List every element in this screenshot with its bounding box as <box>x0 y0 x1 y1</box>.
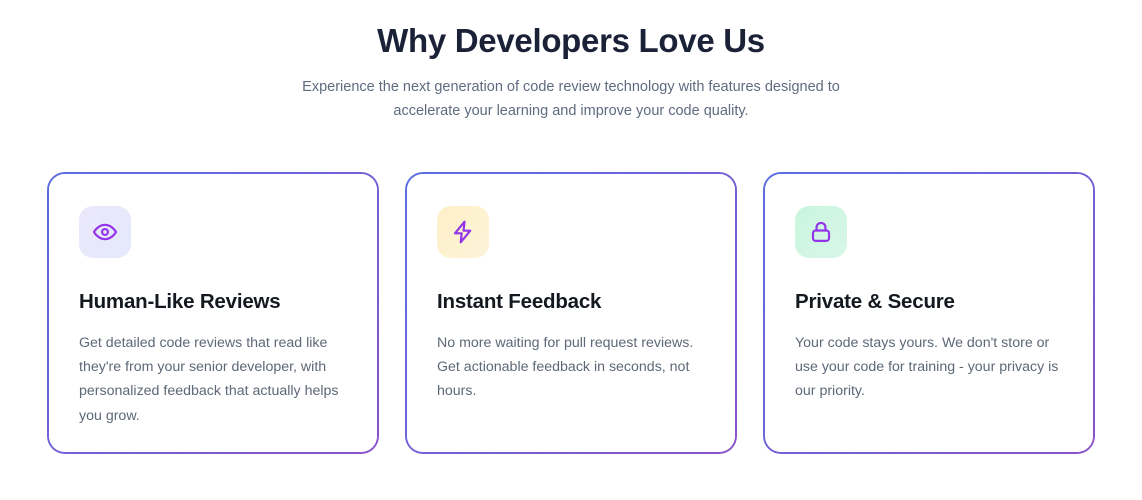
icon-tile-violet <box>79 206 131 258</box>
feature-card-human-like-reviews[interactable]: Human-Like Reviews Get detailed code rev… <box>47 172 379 454</box>
feature-card-title: Private & Secure <box>795 290 1063 315</box>
feature-card-body: Your code stays yours. We don't store or… <box>795 331 1063 404</box>
icon-tile-mint <box>795 206 847 258</box>
feature-cards-row: Human-Like Reviews Get detailed code rev… <box>47 172 1095 454</box>
feature-card-content: Instant Feedback No more waiting for pul… <box>407 174 735 452</box>
lock-icon <box>808 219 834 245</box>
section-header: Why Developers Love Us Experience the ne… <box>0 0 1142 123</box>
eye-icon <box>92 219 118 245</box>
feature-card-body: No more waiting for pull request reviews… <box>437 331 705 404</box>
feature-card-instant-feedback[interactable]: Instant Feedback No more waiting for pul… <box>405 172 737 454</box>
icon-tile-amber <box>437 206 489 258</box>
feature-card-title: Human-Like Reviews <box>79 290 347 315</box>
lightning-bolt-icon <box>450 219 476 245</box>
page-title: Why Developers Love Us <box>0 20 1142 61</box>
feature-card-content: Human-Like Reviews Get detailed code rev… <box>49 174 377 452</box>
feature-card-body: Get detailed code reviews that read like… <box>79 331 347 429</box>
page-subtitle: Experience the next generation of code r… <box>271 76 871 123</box>
features-section: Why Developers Love Us Experience the ne… <box>0 0 1142 500</box>
feature-card-title: Instant Feedback <box>437 290 705 315</box>
feature-card-content: Private & Secure Your code stays yours. … <box>765 174 1093 452</box>
feature-card-private-secure[interactable]: Private & Secure Your code stays yours. … <box>763 172 1095 454</box>
